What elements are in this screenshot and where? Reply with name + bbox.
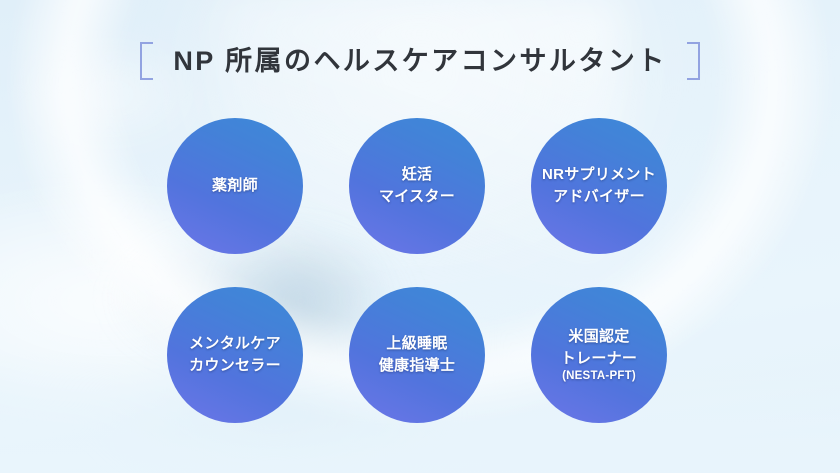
bubble-label-line: 健康指導士: [379, 355, 456, 377]
bubble-fertility-meister[interactable]: 妊活 マイスター: [349, 118, 485, 254]
bubble-nr-supplement-adviser[interactable]: NRサプリメント アドバイザー: [531, 118, 667, 254]
bubble-label-line: 米国認定: [568, 326, 629, 348]
qualification-bubble-grid: 薬剤師 妊活 マイスター NRサプリメント アドバイザー メンタルケア カウンセ…: [167, 118, 668, 423]
bubble-label-line: 妊活: [402, 164, 433, 186]
bracket-left-icon: [140, 42, 153, 80]
bubble-sublabel: (NESTA-PFT): [562, 369, 636, 384]
bubble-label-line: 薬剤師: [212, 175, 258, 197]
bubble-pharmacist[interactable]: 薬剤師: [167, 118, 303, 254]
slide-canvas: NP 所属のヘルスケアコンサルタント 薬剤師 妊活 マイスター NRサプリメント…: [0, 0, 840, 473]
bubble-label-line: NRサプリメント: [542, 164, 656, 186]
bubble-advanced-sleep-health-instructor[interactable]: 上級睡眠 健康指導士: [349, 287, 485, 423]
bracket-right-icon: [687, 42, 700, 80]
page-title: NP 所属のヘルスケアコンサルタント: [0, 42, 840, 80]
bubble-mental-care-counselor[interactable]: メンタルケア カウンセラー: [167, 287, 303, 423]
bubble-label-line: アドバイザー: [553, 186, 645, 208]
bubble-us-certified-trainer[interactable]: 米国認定 トレーナー (NESTA-PFT): [531, 287, 667, 423]
bubble-label-line: メンタルケア: [189, 333, 281, 355]
bubble-label-line: トレーナー: [561, 348, 638, 370]
page-title-text: NP 所属のヘルスケアコンサルタント: [173, 48, 666, 75]
bubble-label-line: カウンセラー: [189, 355, 281, 377]
bubble-label-line: マイスター: [379, 186, 455, 208]
bubble-label-line: 上級睡眠: [386, 333, 447, 355]
